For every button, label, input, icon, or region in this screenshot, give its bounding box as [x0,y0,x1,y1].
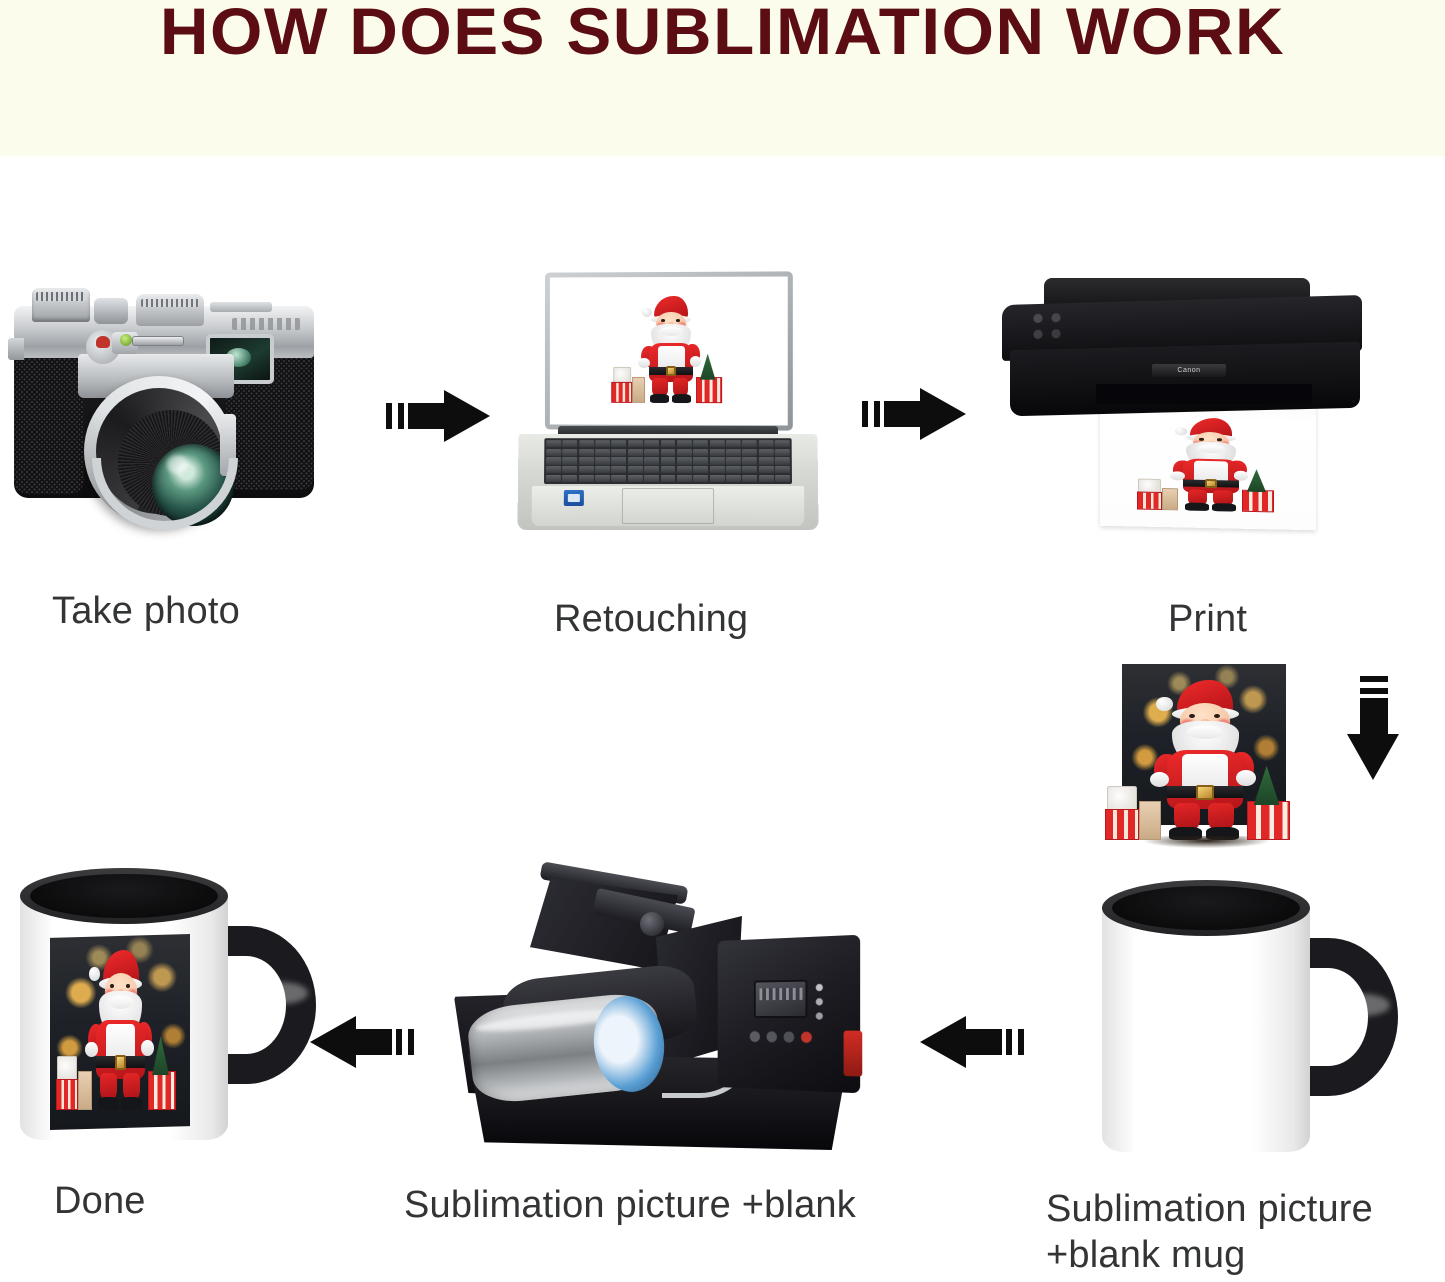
arrow-down-icon [1346,676,1402,780]
santa-artwork-printed [1130,408,1290,525]
printer-brand-label: Canon [1177,367,1200,374]
printed-sublimation-sheet [1096,664,1312,860]
press-power-switch[interactable] [844,1031,863,1077]
arrow-left-icon [920,1014,1024,1070]
laptop-screen [550,276,788,425]
intel-sticker-icon [564,490,584,506]
printer-brand-badge: Canon [1152,364,1226,377]
press-controller-box [718,935,861,1093]
camera-lever [8,338,24,360]
caption-picture-plus-blank-mug: Sublimation picture +blank mug [1046,1186,1373,1278]
laptop-illustration [508,268,828,560]
caption-picture-plus-blank: Sublimation picture +blank [404,1182,856,1228]
camera-lens-hood [92,458,238,530]
press-pivot-bolt [640,912,664,936]
camera-illustration [8,272,320,544]
camera-grip-left [14,334,84,494]
santa-artwork-on-mug [50,934,190,1130]
laptop-lid [545,271,793,430]
title-band: HOW DOES SUBLIMATION WORK [0,0,1445,156]
press-digital-display [754,980,807,1018]
camera-nameplate [132,336,184,346]
printer-illustration: Canon [996,278,1368,458]
caption-done: Done [54,1178,146,1224]
mug-heat-press-illustration [444,878,880,1160]
camera-indicator-lamp [120,334,132,346]
camera-exposure-dial [136,294,204,326]
mug-interior [1112,886,1300,930]
caption-print: Print [1168,596,1247,642]
laptop-keyboard [544,438,792,484]
printer-control-buttons [1026,309,1070,345]
camera-hotshoe [210,302,272,312]
finished-printed-mug [6,868,296,1168]
laptop-base [517,434,818,530]
santa-artwork-sheet [1096,664,1312,860]
press-control-buttons[interactable] [748,1030,819,1045]
mug-body [1102,904,1310,1152]
camera-shutter-speed-dial [32,288,90,322]
press-indicator-leds [815,983,831,1024]
camera-shutter-button [94,298,128,324]
printer-front-case [1010,342,1360,417]
mug-printed-artwork [50,934,190,1130]
printer-paper-output-slot [1096,384,1312,404]
arrow-left-icon [310,1014,414,1070]
arrow-right-icon [862,386,966,442]
mug-interior [30,874,218,918]
blank-sublimation-mug [1088,880,1388,1168]
printer-output-paper [1100,394,1316,531]
caption-take-photo: Take photo [52,588,240,634]
page-title: HOW DOES SUBLIMATION WORK [0,0,1445,66]
santa-artwork-on-screen [606,286,734,417]
caption-retouching: Retouching [554,596,748,642]
arrow-right-icon [386,388,490,444]
camera-brand-mark [232,318,300,330]
laptop-touchpad [622,488,714,524]
